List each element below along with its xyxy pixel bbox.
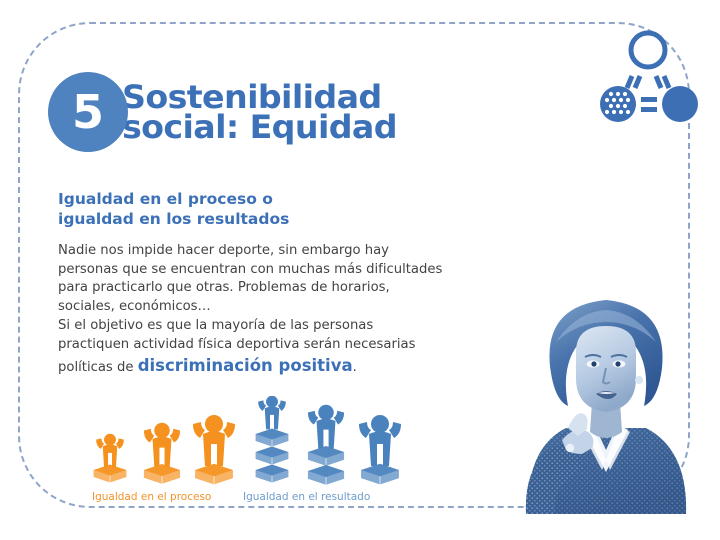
left-pupil <box>591 361 596 366</box>
caption-process: Igualdad en el proceso <box>92 491 211 503</box>
outcome-figure-3 <box>359 415 401 484</box>
final-line-prefix: políticas de <box>58 360 138 375</box>
process-figure-2 <box>144 423 180 484</box>
final-line-suffix: . <box>353 360 357 375</box>
section-heading-line-1: Igualdad en el proceso o <box>58 190 438 210</box>
process-figure-1 <box>94 434 127 483</box>
dotted-circle-icon <box>600 86 636 122</box>
illustration-captions: Igualdad en el proceso Igualdad en el re… <box>86 491 406 507</box>
caption-outcome: Igualdad en el resultado <box>243 491 370 503</box>
final-line-emphasis: discriminación positiva <box>138 356 353 375</box>
section-heading-line-2: igualdad en los resultados <box>58 210 438 230</box>
slide-title-block: 5 Sostenibilidad social: Equidad <box>48 72 386 152</box>
body-final-line: políticas de discriminación positiva. <box>58 354 448 378</box>
earring <box>635 376 643 384</box>
page-title: Sostenibilidad social: Equidad <box>122 82 397 142</box>
outcome-figure-1 <box>256 396 289 482</box>
right-pupil <box>615 361 620 366</box>
outcome-figure-2 <box>308 405 344 485</box>
body-paragraph-2: Si el objetivo es que la mayoría de las … <box>58 317 448 354</box>
page-title-line-2: social: Equidad <box>122 112 397 142</box>
slide-number-label: 5 <box>72 89 104 135</box>
outline-circle-icon <box>631 33 665 67</box>
body-copy: Nadie nos impide hacer deporte, sin emba… <box>58 242 448 378</box>
equals-sign-icon <box>641 97 657 112</box>
body-paragraph-1: Nadie nos impide hacer deporte, sin emba… <box>58 242 448 317</box>
pointing-woman-duotone-photo <box>506 282 706 514</box>
slide-canvas: 5 Sostenibilidad social: Equidad <box>0 0 720 540</box>
illustration-group-outcome <box>256 396 401 485</box>
connector-ticks-icon <box>627 76 669 88</box>
equality-triangle-emblem <box>596 28 700 128</box>
section-heading: Igualdad en el proceso o igualdad en los… <box>58 190 438 230</box>
process-figure-3 <box>193 415 235 484</box>
ring <box>566 444 574 452</box>
slide-number-badge: 5 <box>48 72 128 152</box>
illustration-group-process <box>94 415 235 484</box>
solid-circle-icon <box>662 86 698 122</box>
